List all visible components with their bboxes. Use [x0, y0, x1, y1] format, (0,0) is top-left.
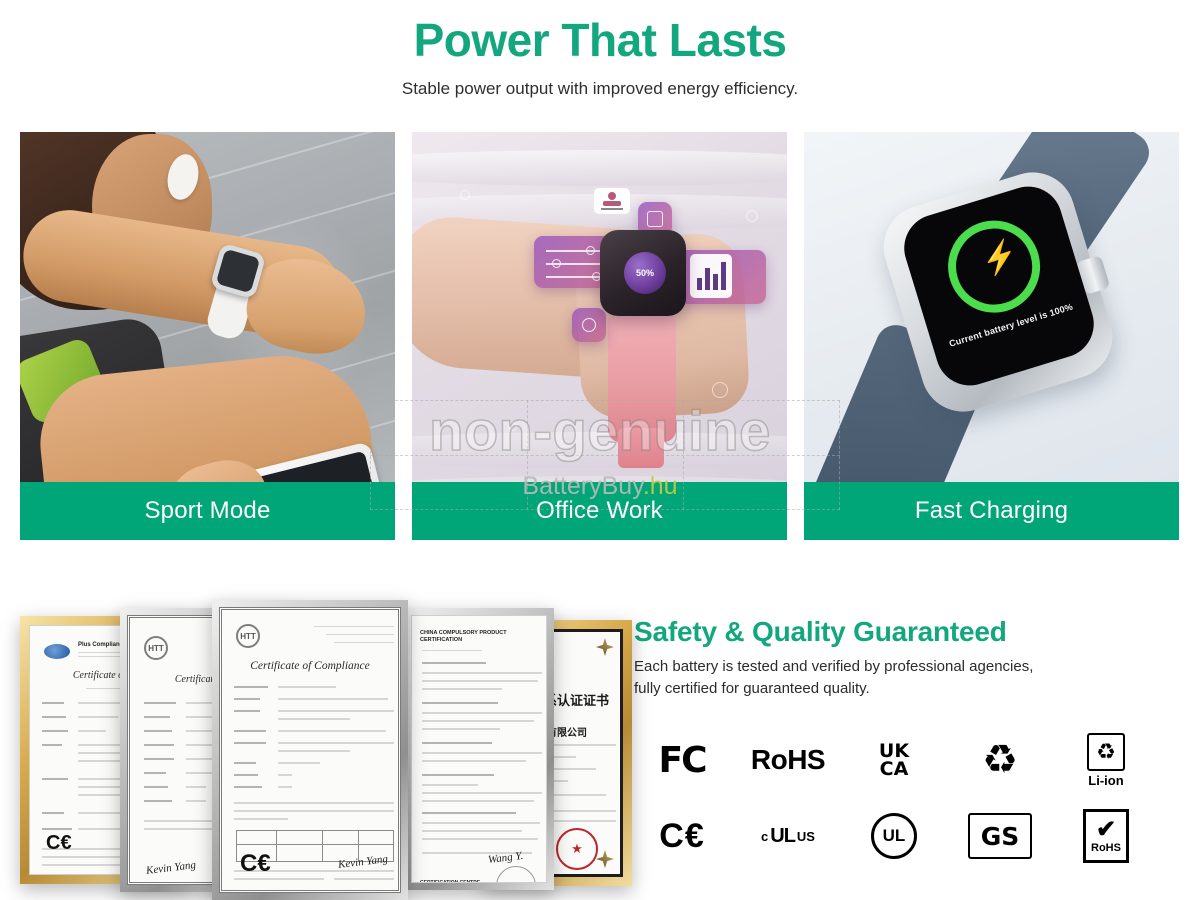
official-seal: ★ — [556, 828, 598, 870]
safety-description: Each battery is tested and verified by p… — [634, 656, 1174, 700]
feature-caption-sport-mode: Sport Mode — [20, 482, 395, 540]
cul-suffix: US — [797, 829, 815, 844]
certificate-title: CHINA COMPULSORY PRODUCT CERTIFICATION — [420, 630, 538, 643]
cul-core: UL — [770, 825, 795, 848]
signature: Kevin Yang — [145, 859, 196, 877]
ukca-badge-icon: UK CA — [846, 730, 942, 790]
certificate-compliance: HTT Certificate of Compliance — [212, 600, 408, 900]
ce-mark-icon: C€ — [46, 832, 72, 855]
certification-badges: FC RoHS UK CA ♻ ♻ Li-ion C€ — [634, 722, 1174, 874]
ul-circle-label: UL — [871, 813, 917, 859]
htt-logo-icon: HTT — [144, 636, 168, 660]
rohs-badge-icon: RoHS — [740, 730, 836, 790]
fcc-badge-icon: FC — [634, 730, 730, 790]
recycle-badge-icon: ♻ — [952, 730, 1048, 790]
ce-mark-icon: C€ — [240, 850, 271, 878]
certificate-title: Certificate of Compliance — [222, 660, 398, 672]
office-work-photo: 50% — [412, 132, 787, 482]
ukca-label-bottom: CA — [879, 760, 909, 778]
page-title: Power That Lasts — [0, 14, 1200, 67]
feature-card-sport-mode[interactable]: Sport Mode — [20, 132, 395, 540]
safety-description-line1: Each battery is tested and verified by p… — [634, 656, 1174, 678]
htt-logo-icon: HTT — [236, 624, 260, 648]
gs-label: GS — [968, 813, 1032, 859]
rohs-check-label: RoHS — [1091, 842, 1121, 854]
certificates-collage: Plus Compliance Service Certificate of C — [12, 600, 612, 900]
li-ion-recycle-symbol: ♻ — [1087, 733, 1125, 771]
watch-band-tail — [618, 428, 664, 468]
ce-badge-icon: C€ — [634, 806, 730, 866]
feature-card-office-work[interactable]: 50% Office Work — [412, 132, 787, 540]
sport-mode-photo — [20, 132, 395, 482]
feature-caption-office-work: Office Work — [412, 482, 787, 540]
cul-prefix: c — [761, 829, 768, 844]
watch-band — [608, 314, 676, 442]
watch-battery-dial: 50% — [624, 252, 666, 294]
ul-recognized-badge-icon: UL — [846, 806, 942, 866]
bottom-section: Plus Compliance Service Certificate of C — [0, 560, 1200, 900]
badge-row-1: FC RoHS UK CA ♻ ♻ Li-ion — [634, 722, 1174, 798]
feature-caption-fast-charging: Fast Charging — [804, 482, 1179, 540]
floating-card-gear — [572, 308, 606, 342]
fast-charging-photo: ⚡ Current battery level is 100% — [804, 132, 1179, 482]
safety-quality-section: Safety & Quality Guaranteed Each battery… — [634, 616, 1174, 874]
fcc-logo-icon — [44, 644, 70, 659]
safety-description-line2: fully certified for guaranteed quality. — [634, 678, 1174, 700]
li-ion-label: Li-ion — [1088, 773, 1123, 788]
rohs-checkmark-icon: ✔ — [1096, 818, 1116, 842]
li-ion-recycle-badge-icon: ♻ Li-ion — [1058, 730, 1154, 790]
page-subtitle: Stable power output with improved energy… — [0, 79, 1200, 99]
gs-badge-icon: GS — [952, 806, 1048, 866]
safety-title: Safety & Quality Guaranteed — [634, 616, 1174, 648]
feature-card-fast-charging[interactable]: ⚡ Current battery level is 100% Fast Cha… — [804, 132, 1179, 540]
product-infographic-page: Power That Lasts Stable power output wit… — [0, 0, 1200, 900]
page-header: Power That Lasts Stable power output wit… — [0, 0, 1200, 99]
cul-us-badge-icon: c UL US — [740, 806, 836, 866]
badge-row-2: C€ c UL US UL GS ✔ RoH — [634, 798, 1174, 874]
rohs-check-badge-icon: ✔ RoHS — [1058, 806, 1154, 866]
certificate-footer: CERTIFICATION CENTRE — [420, 880, 480, 883]
certificate-ccc: CHINA COMPULSORY PRODUCT CERTIFICATION — [404, 608, 554, 890]
feature-panel-row: Sport Mode — [20, 132, 1180, 540]
floating-card-contact — [594, 188, 630, 214]
floating-card-bar-chart — [690, 254, 732, 298]
